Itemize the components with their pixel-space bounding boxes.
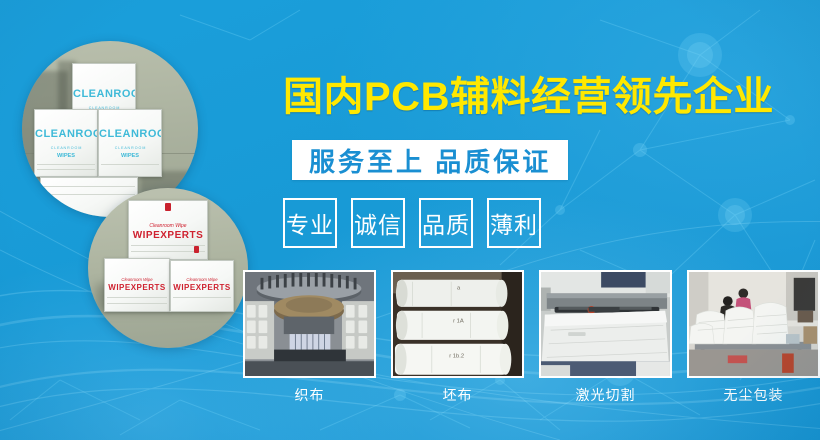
thumbnail-caption: 坯布 (391, 385, 524, 405)
pack-subline: C L E A N R O O M (35, 146, 97, 150)
banner-headline: 国内PCB辅料经营领先企业 (283, 74, 774, 120)
pack-brand-label: CLEANROOM (99, 128, 161, 140)
thumbnail-image-laser-cutting (539, 270, 672, 378)
pack-brand-label: WIPEXPERTS (171, 283, 233, 292)
thumbnail-caption: 织布 (243, 385, 376, 405)
badge-low-margin: 薄利 (487, 198, 541, 248)
process-thumbnail-row: 织布 (243, 270, 806, 405)
svg-text:r 1b.2: r 1b.2 (449, 353, 464, 359)
banner-subtitle: 服务至上 品质保证 (309, 142, 551, 179)
badge-integrity: 诚信 (351, 198, 405, 248)
thumbnail-image-knitting (243, 270, 376, 378)
pack-brand-label: WIPEXPERTS (105, 283, 169, 292)
pack-subline: Cleanroom Wipe (105, 277, 169, 282)
pack-subline: Cleanroom Wipe (171, 277, 233, 282)
pack-brand-label: CLEANROOM (73, 88, 135, 100)
pack-subline: Cleanroom Wipe (129, 223, 207, 229)
badge-professional: 专业 (283, 198, 337, 248)
badge-quality: 品质 (419, 198, 473, 248)
pack-subline-2: WIPES (35, 153, 97, 159)
thumbnail-item: 激光切割 (539, 270, 672, 405)
pack-subline: C L E A N R O O M (99, 146, 161, 150)
thumbnail-image-greige-rolls: r 1A r 1b.2 a (391, 270, 524, 378)
product-photo-wipexperts-packs: Cleanroom Wipe WIPEXPERTS Cleanroom Wipe… (88, 188, 248, 348)
thumbnail-item: 无尘包装 (687, 270, 820, 405)
thumbnail-image-cleanroom-packing (687, 270, 820, 378)
pack-brand-label: CLEANROOM (35, 128, 97, 140)
promotional-banner: CLEANROOM C L E A N R O O M WIPES CLEANR… (0, 0, 820, 440)
thumbnail-item: 织布 (243, 270, 376, 405)
subtitle-band: 服务至上 品质保证 (292, 140, 568, 180)
pack-subline-2: WIPES (99, 153, 161, 159)
svg-text:r 1A: r 1A (453, 318, 464, 324)
thumbnail-caption: 激光切割 (539, 385, 672, 405)
thumbnail-caption: 无尘包装 (687, 385, 820, 405)
value-badges: 专业 诚信 品质 薄利 (283, 198, 541, 248)
thumbnail-item: r 1A r 1b.2 a 坯布 (391, 270, 524, 405)
pack-brand-label: WIPEXPERTS (129, 230, 207, 241)
